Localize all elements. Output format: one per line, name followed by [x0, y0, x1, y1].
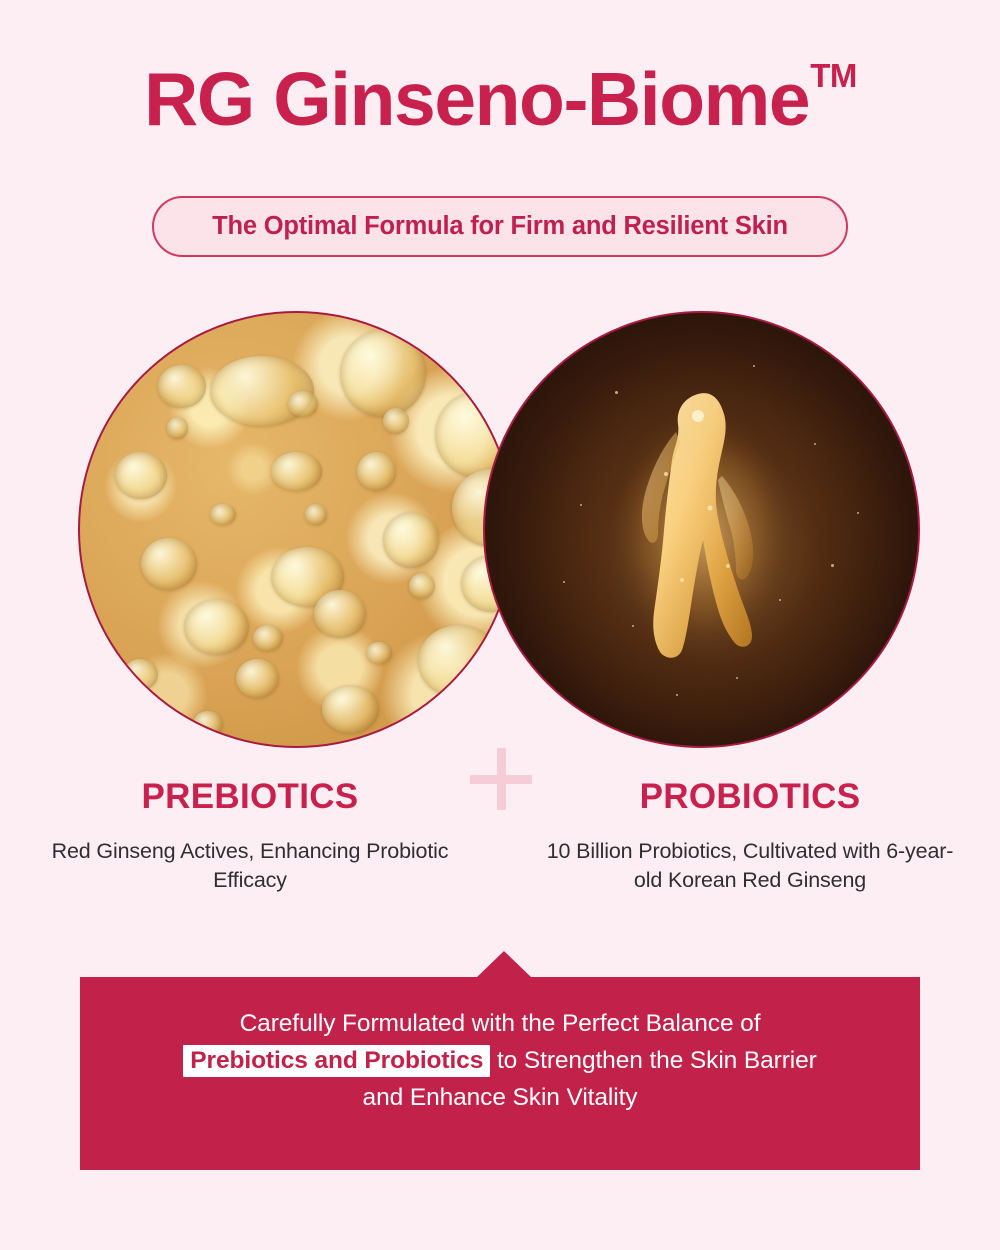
product-ingredient-infographic: RG Ginseno-BiomeTM The Optimal Formula f… — [0, 0, 1000, 1250]
trademark-symbol: TM — [810, 57, 857, 95]
column-prebiotics: PREBIOTICS Red Ginseng Actives, Enhancin… — [0, 779, 500, 896]
banner-pointer-triangle — [476, 951, 532, 978]
prebiotics-description-line-3: Efficacy — [213, 868, 287, 892]
probiotics-image-circle — [483, 311, 920, 748]
subtitle-pill: The Optimal Formula for Firm and Resilie… — [152, 196, 848, 257]
page-title: RG Ginseno-BiomeTM — [0, 62, 1000, 137]
banner-highlight: Prebiotics and Probiotics — [183, 1045, 490, 1077]
probiotics-description-line-3: Korean Red Ginseng — [668, 868, 866, 892]
banner-line-1: Carefully Formulated with the Perfect Ba… — [0, 1005, 1000, 1042]
banner-line-2: Prebiotics and Probiotics to Strengthen … — [0, 1042, 1000, 1079]
probiotics-heading: PROBIOTICS — [540, 779, 960, 816]
subtitle-text: The Optimal Formula for Firm and Resilie… — [212, 212, 788, 241]
column-probiotics: PROBIOTICS 10 Billion Probiotics, Cultiv… — [500, 779, 1000, 896]
prebiotics-image-circle — [78, 311, 515, 748]
ingredient-columns: PREBIOTICS Red Ginseng Actives, Enhancin… — [0, 779, 1000, 896]
probiotics-description-line-1: 10 Billion Probiotics, — [547, 839, 737, 863]
banner-line-2-rest: to Strengthen the Skin Barrier — [490, 1047, 816, 1074]
probiotics-description: 10 Billion Probiotics, Cultivated with 6… — [540, 837, 960, 896]
summary-banner-text: Carefully Formulated with the Perfect Ba… — [0, 1005, 1000, 1117]
banner-line-3: and Enhance Skin Vitality — [0, 1079, 1000, 1116]
prebiotics-description-line-2: Enhancing Probiotic — [260, 839, 448, 863]
prebiotics-description-line-1: Red Ginseng Actives, — [52, 839, 255, 863]
prebiotics-description: Red Ginseng Actives, Enhancing Probiotic… — [40, 837, 460, 896]
ginseng-root-icon — [602, 380, 802, 680]
prebiotics-heading: PREBIOTICS — [40, 779, 460, 816]
product-name: RG Ginseno-Biome — [144, 62, 809, 137]
